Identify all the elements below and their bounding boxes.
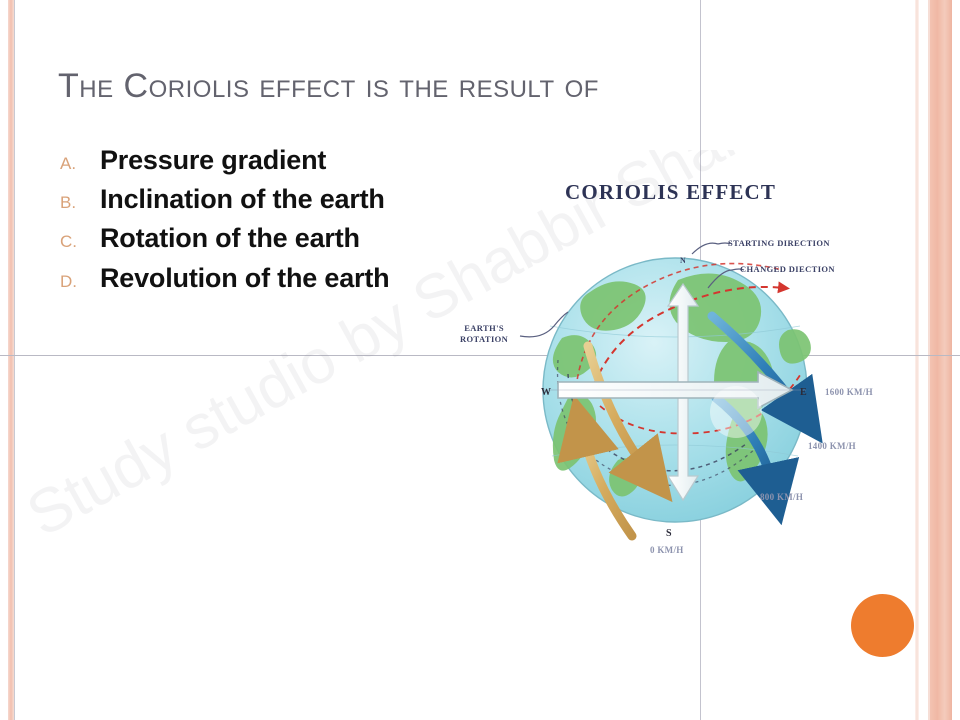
right-thin-accent-band	[915, 0, 919, 720]
list-item[interactable]: A. Pressure gradient	[56, 145, 496, 175]
speed-label-800: 800 KM/H	[760, 492, 803, 502]
speed-label-1600: 1600 KM/H	[825, 387, 873, 397]
orange-accent-dot	[851, 594, 914, 657]
option-letter-a: A.	[56, 154, 100, 174]
option-text-b: Inclination of the earth	[100, 184, 385, 214]
earth-rotation-label: EARTH'S ROTATION	[460, 323, 508, 344]
option-text-a: Pressure gradient	[100, 145, 326, 175]
list-item[interactable]: C. Rotation of the earth	[56, 223, 496, 253]
compass-label-east: E	[800, 387, 807, 398]
legend-starting-direction: STARTING DIRECTION	[728, 238, 830, 248]
option-text-c: Rotation of the earth	[100, 223, 360, 253]
right-accent-band	[930, 0, 952, 720]
earth-rotation-label-line2: ROTATION	[460, 334, 508, 344]
speed-label-0: 0 KM/H	[650, 545, 684, 555]
speed-label-1400: 1400 KM/H	[808, 441, 856, 451]
option-letter-b: B.	[56, 193, 100, 213]
list-item[interactable]: B. Inclination of the earth	[56, 184, 496, 214]
page-title: The Coriolis effect is the result of	[58, 68, 718, 105]
coriolis-diagram: CORIOLIS EFFECT STARTING DIRECTION CHANG…	[440, 160, 910, 580]
compass-label-south: S	[666, 528, 672, 539]
coriolis-globe-svg	[440, 160, 910, 580]
earth-rotation-label-line1: EARTH'S	[464, 323, 504, 333]
list-item[interactable]: D. Revolution of the earth	[56, 263, 496, 293]
left-hairline	[14, 0, 15, 720]
compass-label-west: W	[541, 387, 551, 398]
option-text-d: Revolution of the earth	[100, 263, 389, 293]
option-letter-d: D.	[56, 272, 100, 292]
slide-canvas: The Coriolis effect is the result of A. …	[0, 0, 960, 720]
answer-options-list: A. Pressure gradient B. Inclination of t…	[56, 145, 496, 302]
legend-changed-direction: CHANGED DIECTION	[740, 264, 835, 274]
compass-label-north: N	[680, 256, 686, 265]
diagram-title: CORIOLIS EFFECT	[565, 180, 776, 205]
globe-highlight	[710, 386, 762, 438]
option-letter-c: C.	[56, 232, 100, 252]
